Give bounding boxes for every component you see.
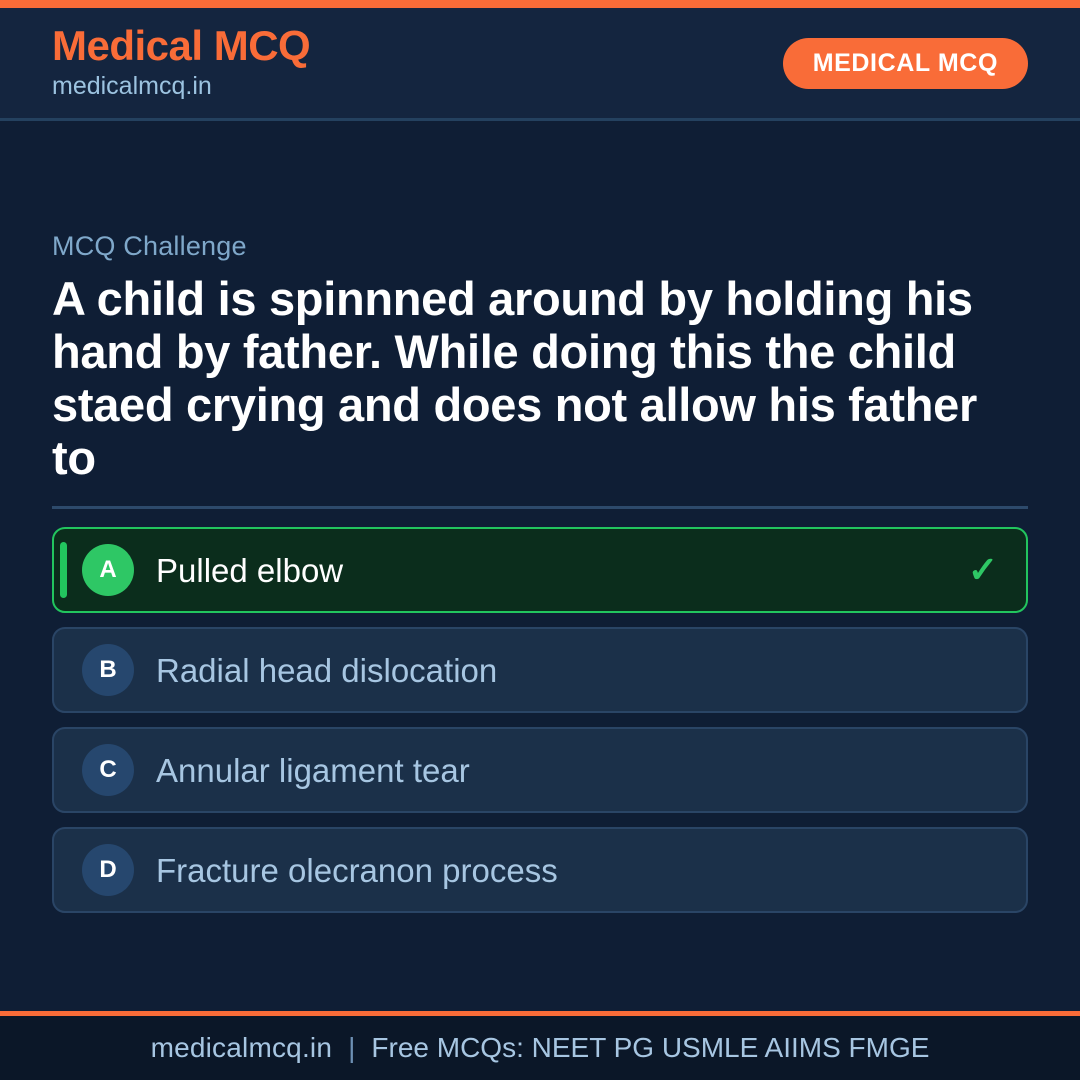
top-accent-rule: [0, 0, 1080, 8]
option-letter-badge: A: [82, 544, 134, 596]
footer-bar: medicalmcq.in | Free MCQs: NEET PG USMLE…: [0, 1016, 1080, 1080]
option-label: Pulled elbow: [156, 554, 343, 587]
footer-site: medicalmcq.in: [151, 1032, 333, 1064]
brand-title: Medical MCQ: [52, 24, 310, 69]
main-content: MCQ Challenge A child is spinnned around…: [0, 121, 1080, 1011]
correct-accent-bar: [60, 542, 67, 598]
section-divider: [52, 506, 1028, 509]
options-list: A Pulled elbow ✓ B Radial head dislocati…: [52, 527, 1028, 913]
option-label: Annular ligament tear: [156, 754, 470, 787]
question-text: A child is spinnned around by holding hi…: [52, 272, 1027, 484]
header-badge: MEDICAL MCQ: [783, 38, 1028, 89]
option-letter-badge: B: [82, 644, 134, 696]
option-label: Radial head dislocation: [156, 654, 497, 687]
option-letter-badge: C: [82, 744, 134, 796]
option-a[interactable]: A Pulled elbow ✓: [52, 527, 1028, 613]
mcq-card: Medical MCQ medicalmcq.in MEDICAL MCQ MC…: [0, 0, 1080, 1080]
option-d[interactable]: D Fracture olecranon process: [52, 827, 1028, 913]
brand-subtitle: medicalmcq.in: [52, 71, 310, 102]
check-icon: ✓: [968, 552, 998, 588]
kicker-label: MCQ Challenge: [52, 231, 1028, 262]
option-b[interactable]: B Radial head dislocation: [52, 627, 1028, 713]
footer-tags: Free MCQs: NEET PG USMLE AIIMS FMGE: [371, 1032, 929, 1064]
option-c[interactable]: C Annular ligament tear: [52, 727, 1028, 813]
footer-separator: |: [332, 1032, 371, 1064]
option-letter-badge: D: [82, 844, 134, 896]
option-label: Fracture olecranon process: [156, 854, 558, 887]
brand-block: Medical MCQ medicalmcq.in: [52, 24, 310, 102]
bottom-spacer: [52, 913, 1028, 1011]
header-bar: Medical MCQ medicalmcq.in MEDICAL MCQ: [0, 8, 1080, 121]
